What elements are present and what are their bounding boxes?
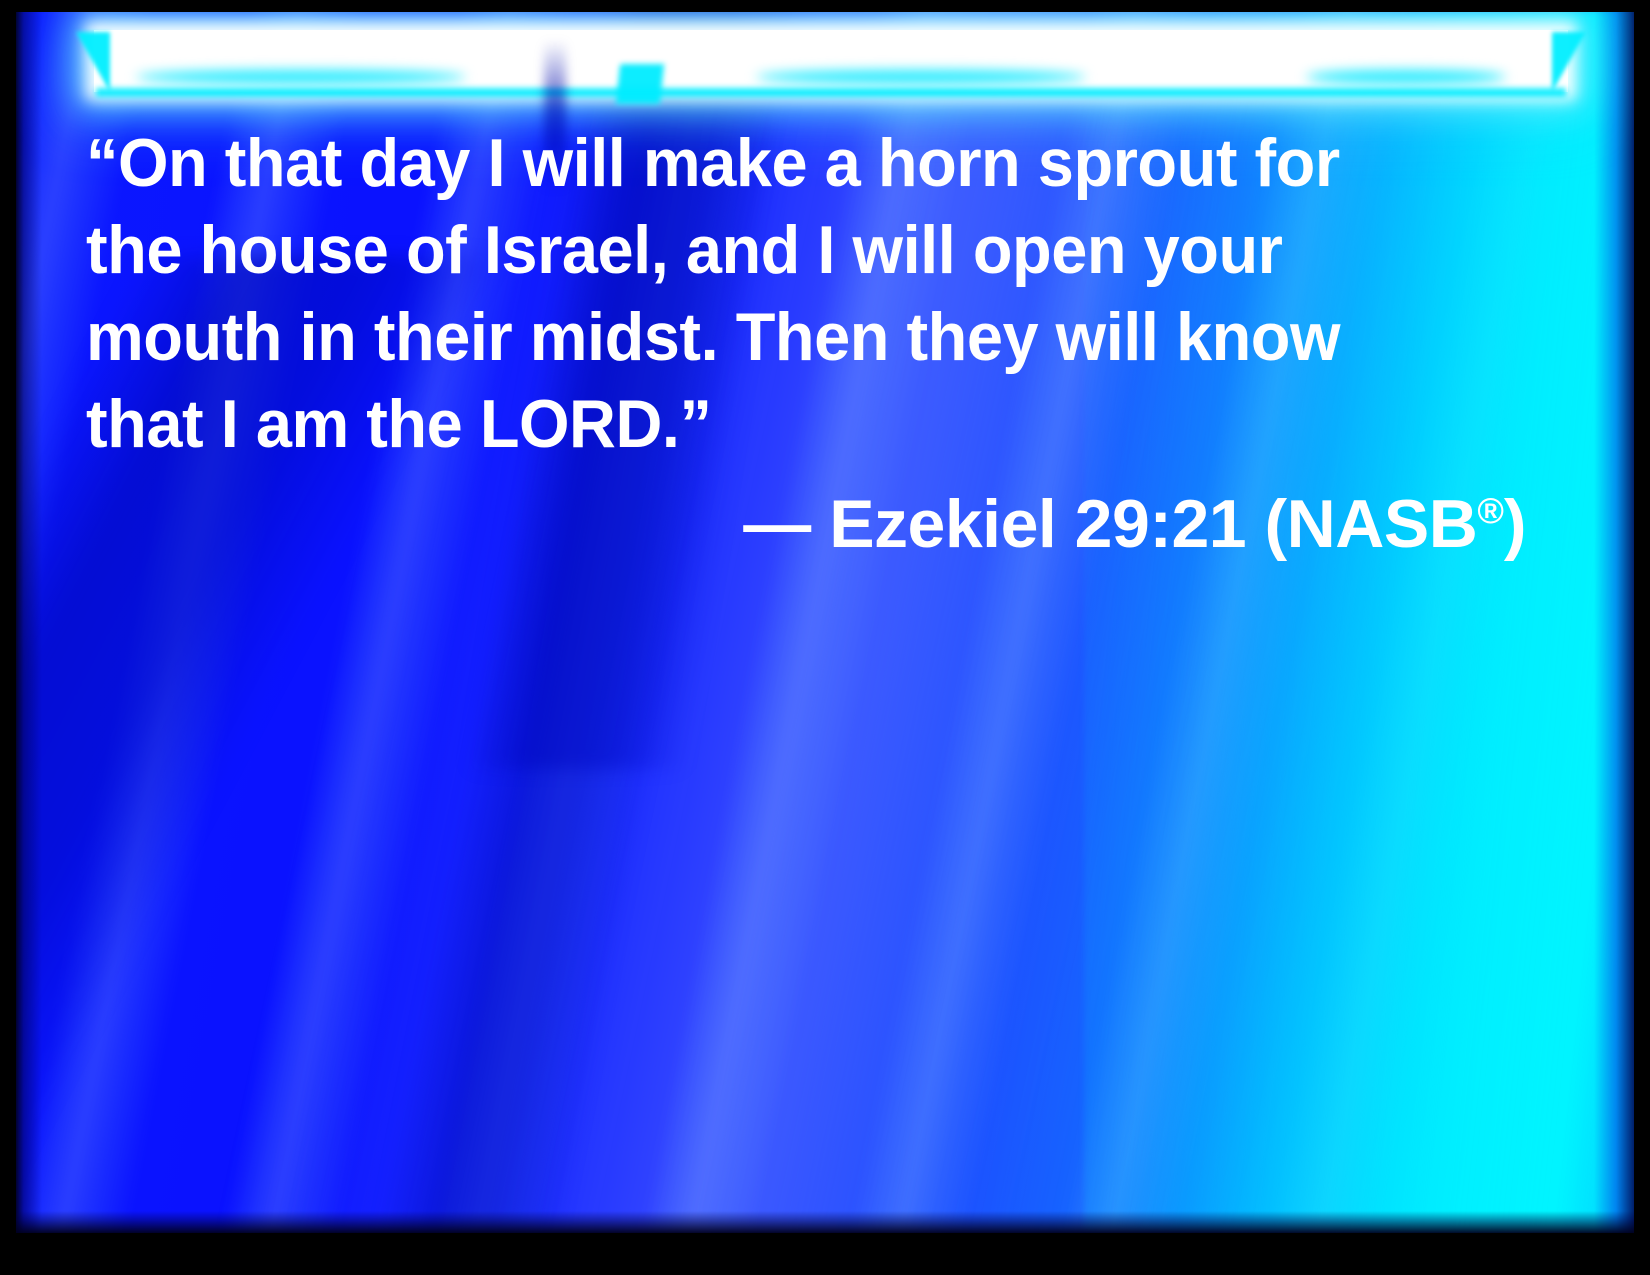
attribution-suffix: ) <box>1504 486 1526 562</box>
verse-line-3: mouth in their midst. Then they will kno… <box>86 294 1461 381</box>
header-cyan-wisp-3 <box>1306 70 1506 84</box>
verse-attribution: — Ezekiel 29:21 (NASB®) <box>86 467 1526 568</box>
verse-text-block: “On that day I will make a horn sprout f… <box>86 120 1526 468</box>
header-bevel-right <box>1552 32 1586 92</box>
verse-line-4: that I am the LORD.” <box>86 381 1461 468</box>
background-right-falloff <box>1594 12 1634 1233</box>
background-left-falloff <box>16 12 42 1233</box>
slide-canvas: “On that day I will make a horn sprout f… <box>0 0 1650 1275</box>
background-bottom-falloff <box>16 1211 1634 1233</box>
header-bevel-left <box>76 32 110 92</box>
header-cyan-underline <box>96 88 1566 97</box>
registered-trademark-icon: ® <box>1477 490 1504 531</box>
header-cyan-wisp-2 <box>756 70 1086 84</box>
attribution-prefix: — Ezekiel 29:21 (NASB <box>743 486 1477 562</box>
verse-line-1: “On that day I will make a horn sprout f… <box>86 120 1461 207</box>
verse-line-2: the house of Israel, and I will open you… <box>86 207 1461 294</box>
slide-background: “On that day I will make a horn sprout f… <box>16 12 1634 1233</box>
header-glow-bar <box>76 30 1586 102</box>
header-cyan-notch <box>616 64 664 104</box>
header-cyan-wisp-1 <box>136 70 466 84</box>
